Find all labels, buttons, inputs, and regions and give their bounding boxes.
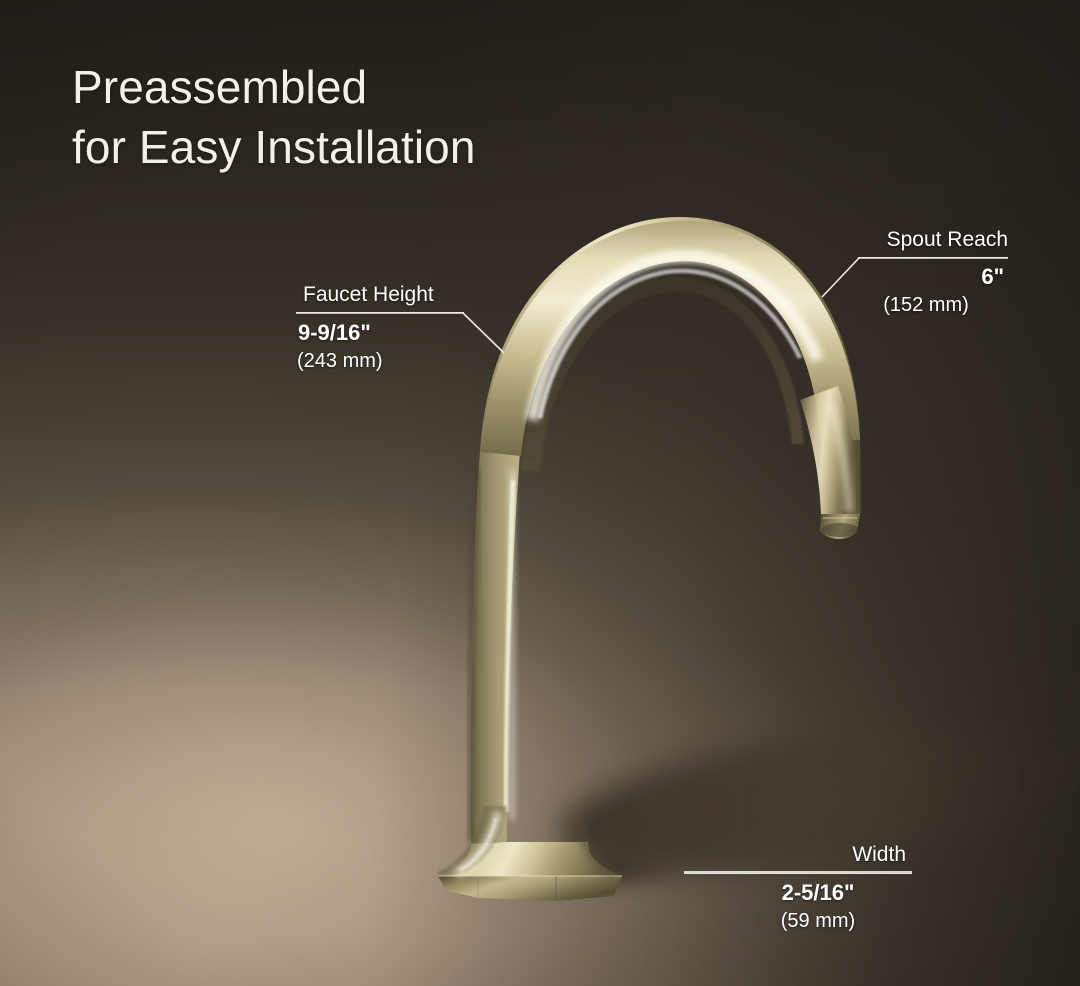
callout-spout-reach-label: Spout Reach — [786, 228, 1008, 252]
callout-width: Width 2-5/16" (59 mm) — [684, 843, 912, 933]
callout-width-rule — [684, 873, 912, 874]
callout-spout-reach-value: 6" — [786, 264, 1008, 290]
callout-width-label: Width — [684, 843, 912, 867]
callout-faucet-height-rule — [296, 312, 464, 313]
headline: Preassembled for Easy Installation — [72, 58, 476, 178]
headline-line-1: Preassembled — [72, 61, 367, 113]
callout-spout-reach-metric: (152 mm) — [786, 294, 1008, 317]
callout-faucet-height-metric: (243 mm) — [296, 350, 464, 373]
callout-faucet-height: Faucet Height 9-9/16" (243 mm) — [296, 283, 464, 373]
callout-width-metric: (59 mm) — [684, 910, 912, 933]
callout-faucet-height-label: Faucet Height — [296, 283, 464, 307]
callout-spout-reach: Spout Reach 6" (152 mm) — [786, 228, 1008, 317]
headline-line-2: for Easy Installation — [72, 118, 476, 178]
callout-width-value: 2-5/16" — [684, 880, 912, 906]
callout-faucet-height-value: 9-9/16" — [296, 320, 464, 346]
product-dimension-infographic: Preassembled for Easy Installation Fauce… — [0, 0, 1080, 986]
callout-spout-reach-rule — [858, 257, 1008, 258]
